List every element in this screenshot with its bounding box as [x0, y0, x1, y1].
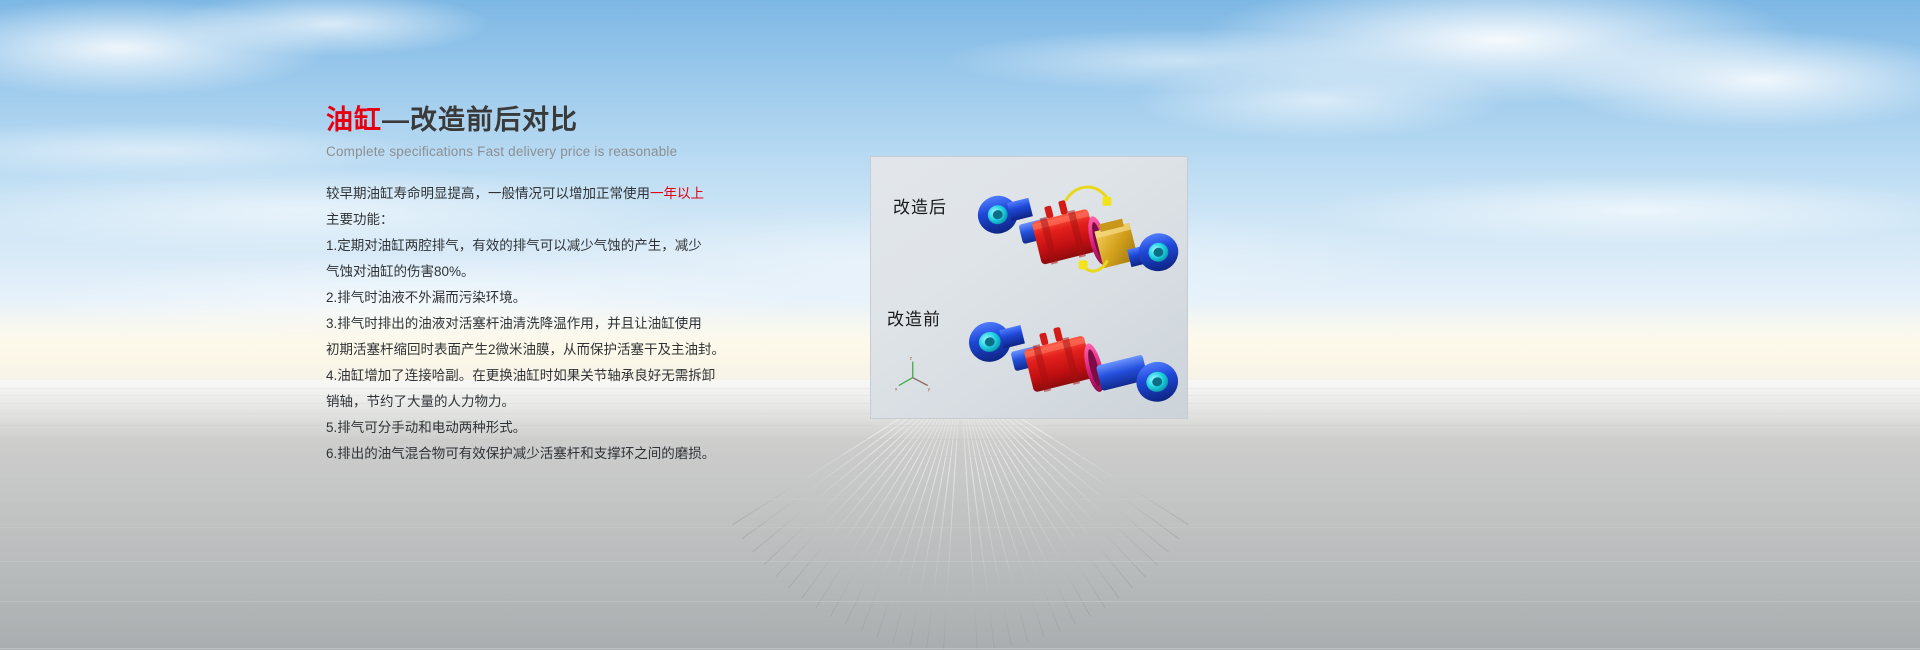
feature-line: 气蚀对油缸的伤害80%。 — [326, 259, 796, 285]
feature-line: 2.排气时油液不外漏而污染环境。 — [326, 285, 796, 311]
feature-line-text: 2.排气时油液不外漏而污染环境。 — [326, 290, 526, 305]
feature-line: 主要功能： — [326, 207, 796, 233]
ground-plane — [0, 380, 1920, 650]
page-title-rest: —改造前后对比 — [382, 105, 578, 135]
feature-line-text: 销轴，节约了大量的人力物力。 — [326, 394, 515, 409]
coordinate-axis-icon: z x y — [895, 357, 931, 393]
paving-line — [0, 439, 1920, 440]
feature-line: 6.排出的油气混合物可有效保护减少活塞杆和支撑环之间的磨损。 — [326, 441, 796, 467]
feature-line-text: 4.油缸增加了连接哈副。在更换油缸时如果关节轴承良好无需拆卸 — [326, 368, 715, 383]
cylinder-after-modification — [974, 187, 1182, 278]
svg-text:x: x — [895, 388, 898, 393]
feature-line-text: 主要功能： — [326, 212, 394, 227]
feature-line: 较早期油缸寿命明显提高，一般情况可以增加正常使用一年以上 — [326, 181, 796, 207]
banner-content: 油缸—改造前后对比 Complete specifications Fast d… — [326, 104, 796, 467]
svg-text:z: z — [910, 357, 913, 362]
paving-line — [0, 456, 1920, 457]
svg-text:y: y — [928, 388, 931, 393]
promotional-banner: 油缸—改造前后对比 Complete specifications Fast d… — [0, 0, 1920, 650]
paving-line — [0, 425, 1920, 426]
feature-line-text: 3.排气时排出的油液对活塞杆油清洗降温作用，并且让油缸使用 — [326, 316, 702, 331]
feature-line: 5.排气可分手动和电动两种形式。 — [326, 415, 796, 441]
paving-line — [0, 527, 1920, 528]
page-title-accent: 油缸 — [326, 105, 382, 135]
perspective-lines — [0, 380, 1920, 650]
paving-line — [0, 499, 1920, 500]
feature-line: 4.油缸增加了连接哈副。在更换油缸时如果关节轴承良好无需拆卸 — [326, 363, 796, 389]
feature-description-list: 较早期油缸寿命明显提高，一般情况可以增加正常使用一年以上主要功能：1.定期对油缸… — [326, 181, 796, 467]
feature-line: 1.定期对油缸两腔排气，有效的排气可以减少气蚀的产生，减少 — [326, 233, 796, 259]
label-before-modification: 改造前 — [887, 305, 941, 330]
feature-line: 3.排气时排出的油液对活塞杆油清洗降温作用，并且让油缸使用 — [326, 311, 796, 337]
paving-line — [0, 648, 1920, 649]
product-comparison-image: z x y 改造后 改造前 — [870, 156, 1188, 419]
feature-line-text: 1.定期对油缸两腔排气，有效的排气可以减少气蚀的产生，减少 — [326, 238, 702, 253]
label-after-modification: 改造后 — [893, 193, 947, 218]
feature-line-text: 初期活塞杆缩回时表面产生2微米油膜，从而保护活塞干及主油封。 — [326, 342, 725, 357]
page-subtitle: Complete specifications Fast delivery pr… — [326, 144, 796, 159]
paving-line — [0, 601, 1920, 602]
paving-line — [0, 476, 1920, 477]
page-title: 油缸—改造前后对比 — [326, 104, 796, 138]
feature-line-text: 气蚀对油缸的伤害80%。 — [326, 264, 475, 279]
cylinder-before-modification — [965, 314, 1183, 406]
feature-line-text: 6.排出的油气混合物可有效保护减少活塞杆和支撑环之间的磨损。 — [326, 446, 715, 461]
feature-line-text: 较早期油缸寿命明显提高，一般情况可以增加正常使用 — [326, 186, 650, 201]
feature-line-text: 5.排气可分手动和电动两种形式。 — [326, 420, 526, 435]
feature-line: 销轴，节约了大量的人力物力。 — [326, 389, 796, 415]
feature-line: 初期活塞杆缩回时表面产生2微米油膜，从而保护活塞干及主油封。 — [326, 337, 796, 363]
feature-line-accent: 一年以上 — [650, 186, 704, 201]
paving-line — [0, 561, 1920, 562]
